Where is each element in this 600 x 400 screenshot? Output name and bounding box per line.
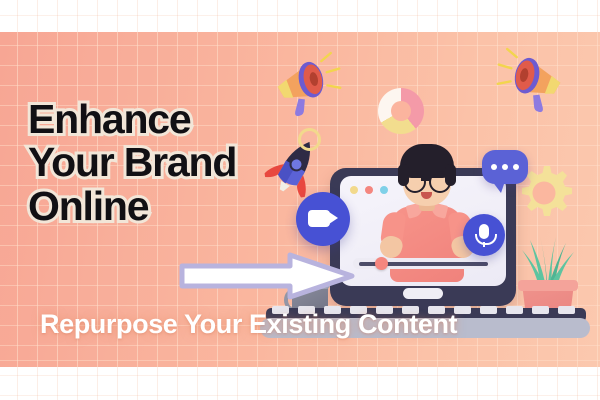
video-camera-lens (329, 212, 338, 224)
chat-dot-1 (491, 164, 497, 170)
glasses-lens-left (404, 171, 426, 193)
microphone-stem (483, 242, 485, 247)
banner-subtitle: Repurpose Your Existing Content (40, 309, 457, 340)
keyboard-key (558, 306, 575, 314)
keyboard-key (506, 306, 523, 314)
window-dot-yellow (350, 186, 358, 194)
window-dot-blue (380, 186, 388, 194)
window-dots (350, 186, 390, 194)
banner-canvas: Enhance Your Brand Online Repurpose Your… (0, 0, 600, 400)
microphone-icon[interactable] (463, 214, 505, 256)
progress-knob[interactable] (375, 257, 388, 270)
glasses-bridge (421, 178, 430, 181)
keyboard-key (532, 306, 549, 314)
chat-bubble-icon (482, 150, 528, 184)
keyboard-key (480, 306, 497, 314)
window-dot-red (365, 186, 373, 194)
megaphone-icon-right (487, 45, 569, 117)
donut-chart-icon (378, 88, 424, 134)
microphone-arc (475, 234, 497, 245)
monitor-chin-button (403, 288, 443, 299)
right-arrow (178, 252, 356, 300)
chat-dot-3 (513, 164, 519, 170)
glasses-lens-right (429, 171, 451, 193)
chat-dot-2 (502, 164, 508, 170)
page-title: Enhance Your Brand Online (28, 98, 328, 228)
video-progress-bar[interactable] (353, 258, 494, 269)
plant-pot-rim (518, 280, 578, 291)
